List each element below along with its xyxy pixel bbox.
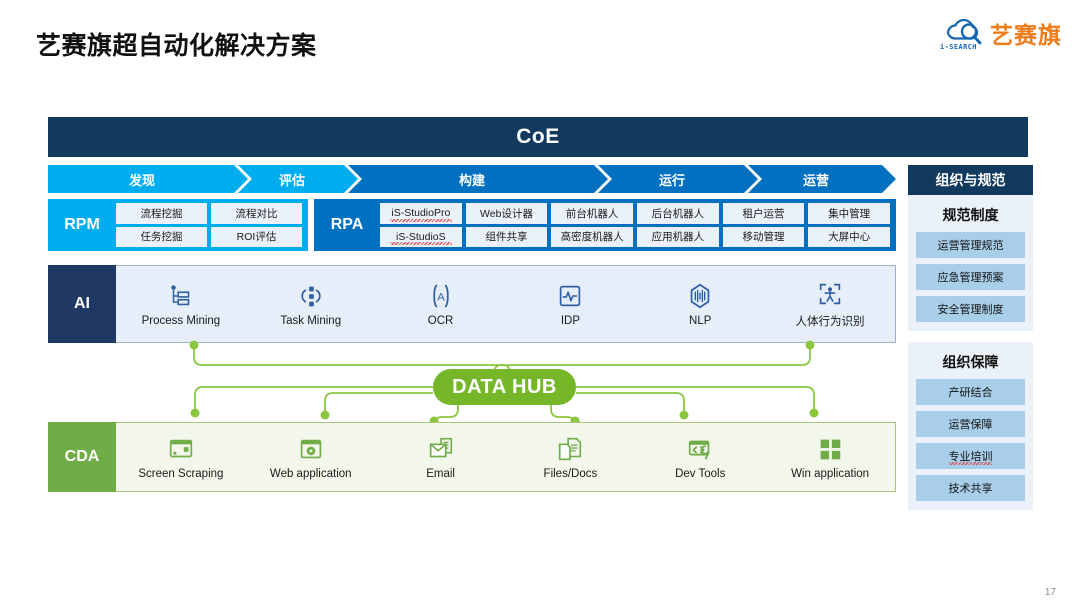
rpa-chip-bigscreen[interactable]: 大屏中心 [808,227,890,248]
rail-item-tech-sharing[interactable]: 技术共享 [916,475,1025,501]
rpa-chip-component-share[interactable]: 组件共享 [466,227,548,248]
rpa-chip-high-density[interactable]: 高密度机器人 [551,227,633,248]
rail-group-title: 规范制度 [916,202,1025,232]
rail-organization: 组织保障 产研结合 运营保障 专业培训 技术共享 [908,342,1033,510]
cda-item-web-application[interactable]: Web application [246,434,376,480]
rpa-chip-tenant-ops[interactable]: 租户运营 [723,203,805,224]
cda-item-win-application[interactable]: Win application [765,434,895,480]
ai-item-human-action[interactable]: 人体行为识别 [765,279,895,329]
rpm-label: RPM [48,199,116,251]
win-application-icon [815,434,845,464]
rail-item-security-policy[interactable]: 安全管理制度 [916,296,1025,322]
web-application-icon [296,434,326,464]
ai-item-process-mining[interactable]: Process Mining [116,281,246,327]
page-title: 艺赛旗超自动化解决方案 [36,26,317,62]
idp-icon [555,281,585,311]
ai-item-task-mining[interactable]: Task Mining [246,281,376,327]
brand-logo: i-SEARCH 艺赛旗 [938,16,1062,50]
ai-item-label: Task Mining [280,315,341,327]
rpm-row: 任务挖掘 ROI评估 [116,227,302,248]
phase-chevron-operate[interactable]: 运营 [748,165,896,193]
cda-item-label: Dev Tools [675,468,725,480]
cda-item-screen-scraping[interactable]: Screen Scraping [116,434,246,480]
task-mining-icon [296,281,326,311]
rail-standards: 组织与规范 规范制度 运营管理规范 应急管理预案 安全管理制度 [908,165,1033,331]
rpa-panel: RPA iS-StudioPro Web设计器 前台机器人 后台机器人 租户运营… [314,199,896,251]
human-action-recognition-icon [815,279,845,309]
rail-item-ops-standard[interactable]: 运营管理规范 [916,232,1025,258]
nlp-icon [685,281,715,311]
rpm-chip-process-mining[interactable]: 流程挖掘 [116,203,207,224]
page-number: 17 [1045,587,1056,598]
rpm-chip-process-compare[interactable]: 流程对比 [211,203,302,224]
solution-diagram: CoE 发现 评估 构建 运行 运营 RPM 流程挖掘 流程对比 任务挖掘 RO… [48,117,1033,492]
rpa-row: iS-StudioS 组件共享 高密度机器人 应用机器人 移动管理 大屏中心 [380,227,890,248]
rpa-row: iS-StudioPro Web设计器 前台机器人 后台机器人 租户运营 集中管… [380,203,890,224]
rail-item-rnd-integration[interactable]: 产研结合 [916,379,1025,405]
slide-canvas: 艺赛旗超自动化解决方案 i-SEARCH 艺赛旗 17 CoE 发现 评估 构建… [0,0,1080,610]
cda-item-label: Web application [270,468,352,480]
cloud-search-icon: i-SEARCH [938,16,984,50]
ocr-icon: A [426,281,456,311]
cda-item-label: Win application [791,468,869,480]
ai-item-ocr[interactable]: A OCR [376,281,506,327]
cda-item-dev-tools[interactable]: Dev Tools [635,434,765,480]
files-docs-icon [555,434,585,464]
ai-item-label: IDP [561,315,580,327]
ai-item-label: OCR [428,315,454,327]
ai-item-nlp[interactable]: NLP [635,281,765,327]
logo-brand-cn: 艺赛旗 [990,16,1062,50]
email-icon [426,434,456,464]
rail-item-training[interactable]: 专业培训 [916,443,1025,469]
cda-item-label: Email [426,468,455,480]
rpm-panel: RPM 流程挖掘 流程对比 任务挖掘 ROI评估 [48,199,308,251]
cda-item-label: Files/Docs [544,468,598,480]
ai-item-label: 人体行为识别 [796,313,865,329]
cda-item-label: Screen Scraping [138,468,223,480]
ai-item-idp[interactable]: IDP [505,281,635,327]
rpa-chip-app-bot[interactable]: 应用机器人 [637,227,719,248]
rpa-chip-studiopro[interactable]: iS-StudioPro [380,203,462,224]
phase-chevron-run[interactable]: 运行 [598,165,758,193]
rail-group-title: 组织保障 [916,349,1025,379]
logo-subtext: i-SEARCH [940,43,977,51]
rpa-chip-attended-bot[interactable]: 前台机器人 [551,203,633,224]
rpa-chip-web-designer[interactable]: Web设计器 [466,203,548,224]
rpa-chip-mobile-mgmt[interactable]: 移动管理 [723,227,805,248]
cda-item-email[interactable]: Email [376,434,506,480]
ai-label: AI [48,265,116,343]
rail-item-ops-assurance[interactable]: 运营保障 [916,411,1025,437]
dev-tools-icon [685,434,715,464]
ai-item-label: NLP [689,315,711,327]
ai-band: AI Process Mining [48,265,896,343]
phase-chevron-discover[interactable]: 发现 [48,165,248,193]
rpm-chip-roi[interactable]: ROI评估 [211,227,302,248]
process-mining-icon [166,281,196,311]
rpa-label: RPA [314,199,380,251]
rpa-chip-unattended-bot[interactable]: 后台机器人 [637,203,719,224]
screen-scraping-icon [166,434,196,464]
coe-banner: CoE [48,117,1028,157]
rpa-chip-central-mgmt[interactable]: 集中管理 [808,203,890,224]
rail-item-emergency-plan[interactable]: 应急管理预案 [916,264,1025,290]
rail-header: 组织与规范 [908,165,1033,195]
ai-item-label: Process Mining [142,315,221,327]
cda-label: CDA [48,422,116,492]
phase-chevron-row: 发现 评估 构建 运行 运营 [48,165,896,193]
phase-chevron-assess[interactable]: 评估 [238,165,358,193]
data-hub-badge[interactable]: DATA HUB [433,369,576,405]
cda-item-files-docs[interactable]: Files/Docs [505,434,635,480]
cda-band: CDA Screen Scraping [48,422,896,492]
svg-text:A: A [437,292,445,304]
rpm-row: 流程挖掘 流程对比 [116,203,302,224]
phase-chevron-build[interactable]: 构建 [348,165,608,193]
rpm-chip-task-mining[interactable]: 任务挖掘 [116,227,207,248]
rpa-chip-studios[interactable]: iS-StudioS [380,227,462,248]
